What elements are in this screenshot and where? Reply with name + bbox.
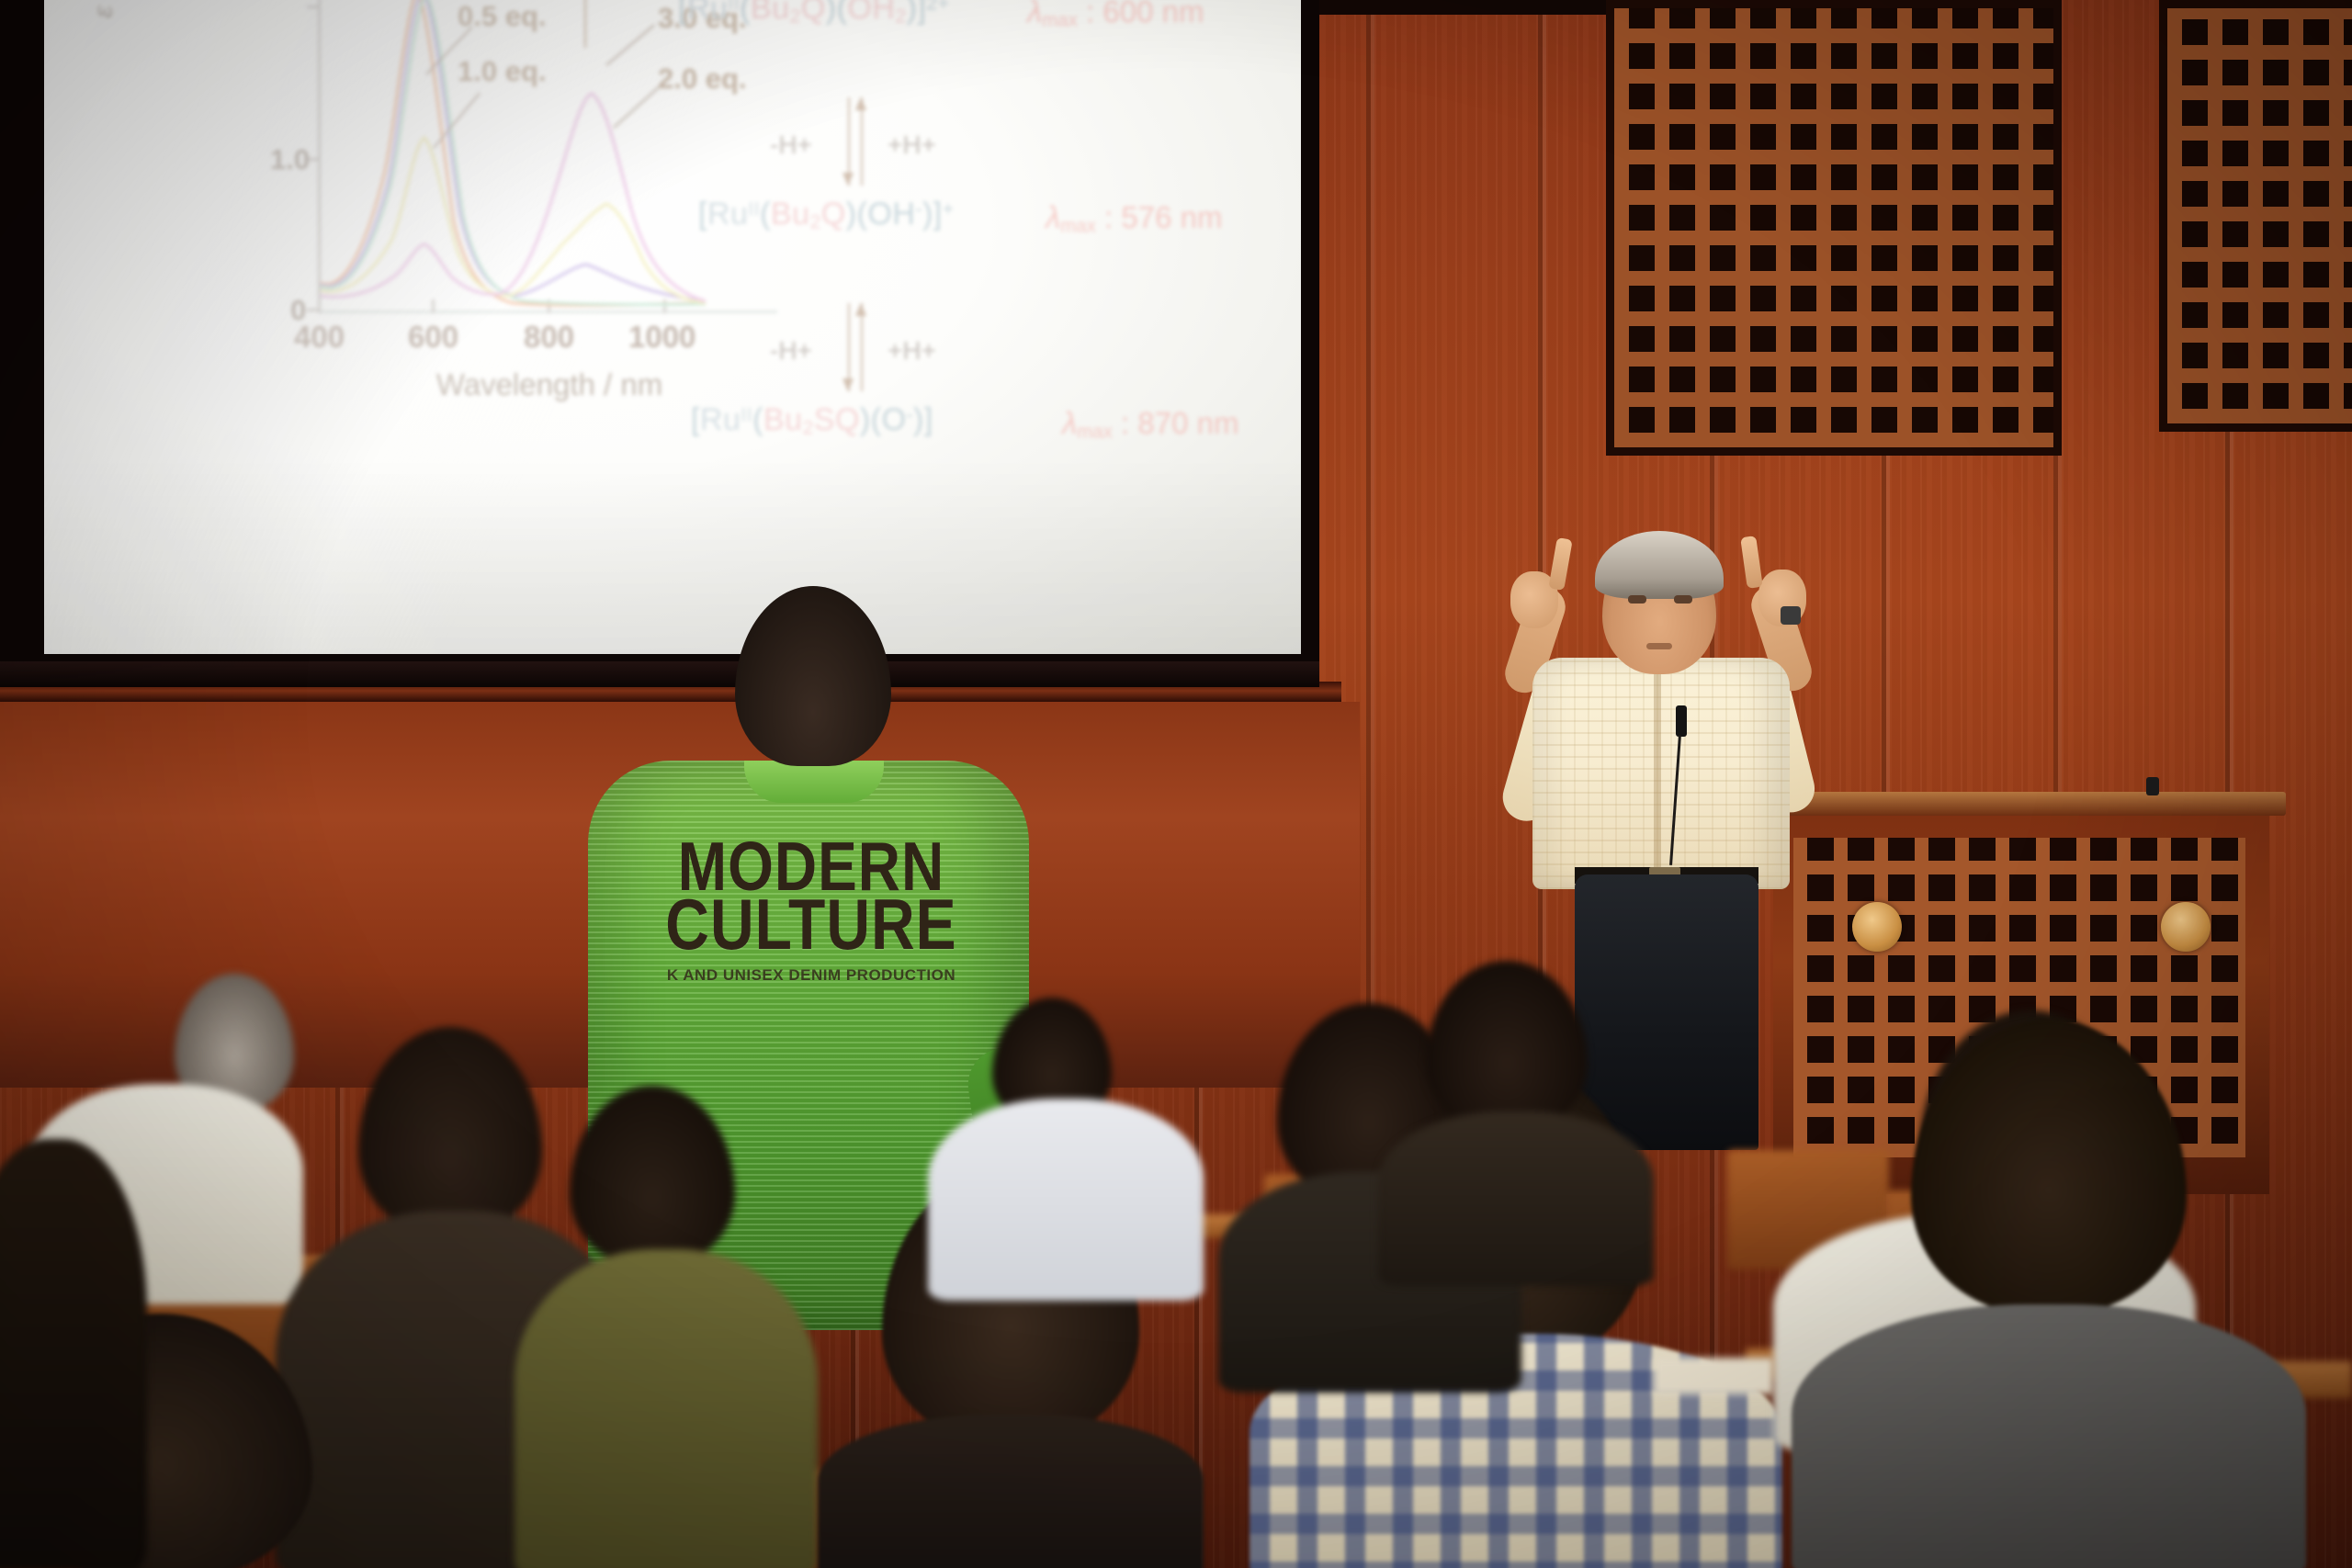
podium-microphone xyxy=(2146,777,2159,795)
podium-emblem-left xyxy=(1852,902,1902,952)
paper-on-desk xyxy=(1654,1358,1773,1394)
wall-lattice-panel-right xyxy=(2159,0,2352,432)
presenter-mouth xyxy=(1646,643,1672,649)
screen-glare xyxy=(44,0,1301,654)
lecture-hall-photo: ε / 104 M-1 cm-1 1.0 0 400 600 800 1000 … xyxy=(0,0,2352,1568)
projection-screen-frame: ε / 104 M-1 cm-1 1.0 0 400 600 800 1000 … xyxy=(0,0,1319,687)
projection-screen: ε / 104 M-1 cm-1 1.0 0 400 600 800 1000 … xyxy=(44,0,1301,654)
student-collar xyxy=(744,761,884,803)
presenter-wristwatch xyxy=(1781,606,1801,625)
presenter-left-eye xyxy=(1628,595,1646,604)
student-tshirt-print: MODERN CULTURE K AND UNISEX DENIM PRODUC… xyxy=(614,838,1009,985)
presenter-shirt-placket xyxy=(1654,658,1661,887)
podium-emblem-right xyxy=(2161,902,2211,952)
wall-lattice-panel-left xyxy=(1606,0,2062,456)
presenter-trousers xyxy=(1575,874,1758,1150)
tshirt-line-3: K AND UNISEX DENIM PRODUCTION xyxy=(614,966,1009,985)
tshirt-line-2: CULTURE xyxy=(614,889,1009,959)
podium-top-surface xyxy=(1760,792,2286,816)
presenter-right-eye xyxy=(1674,595,1692,604)
presenter-shirt xyxy=(1532,658,1790,889)
presenter-lapel-mic xyxy=(1676,705,1687,737)
